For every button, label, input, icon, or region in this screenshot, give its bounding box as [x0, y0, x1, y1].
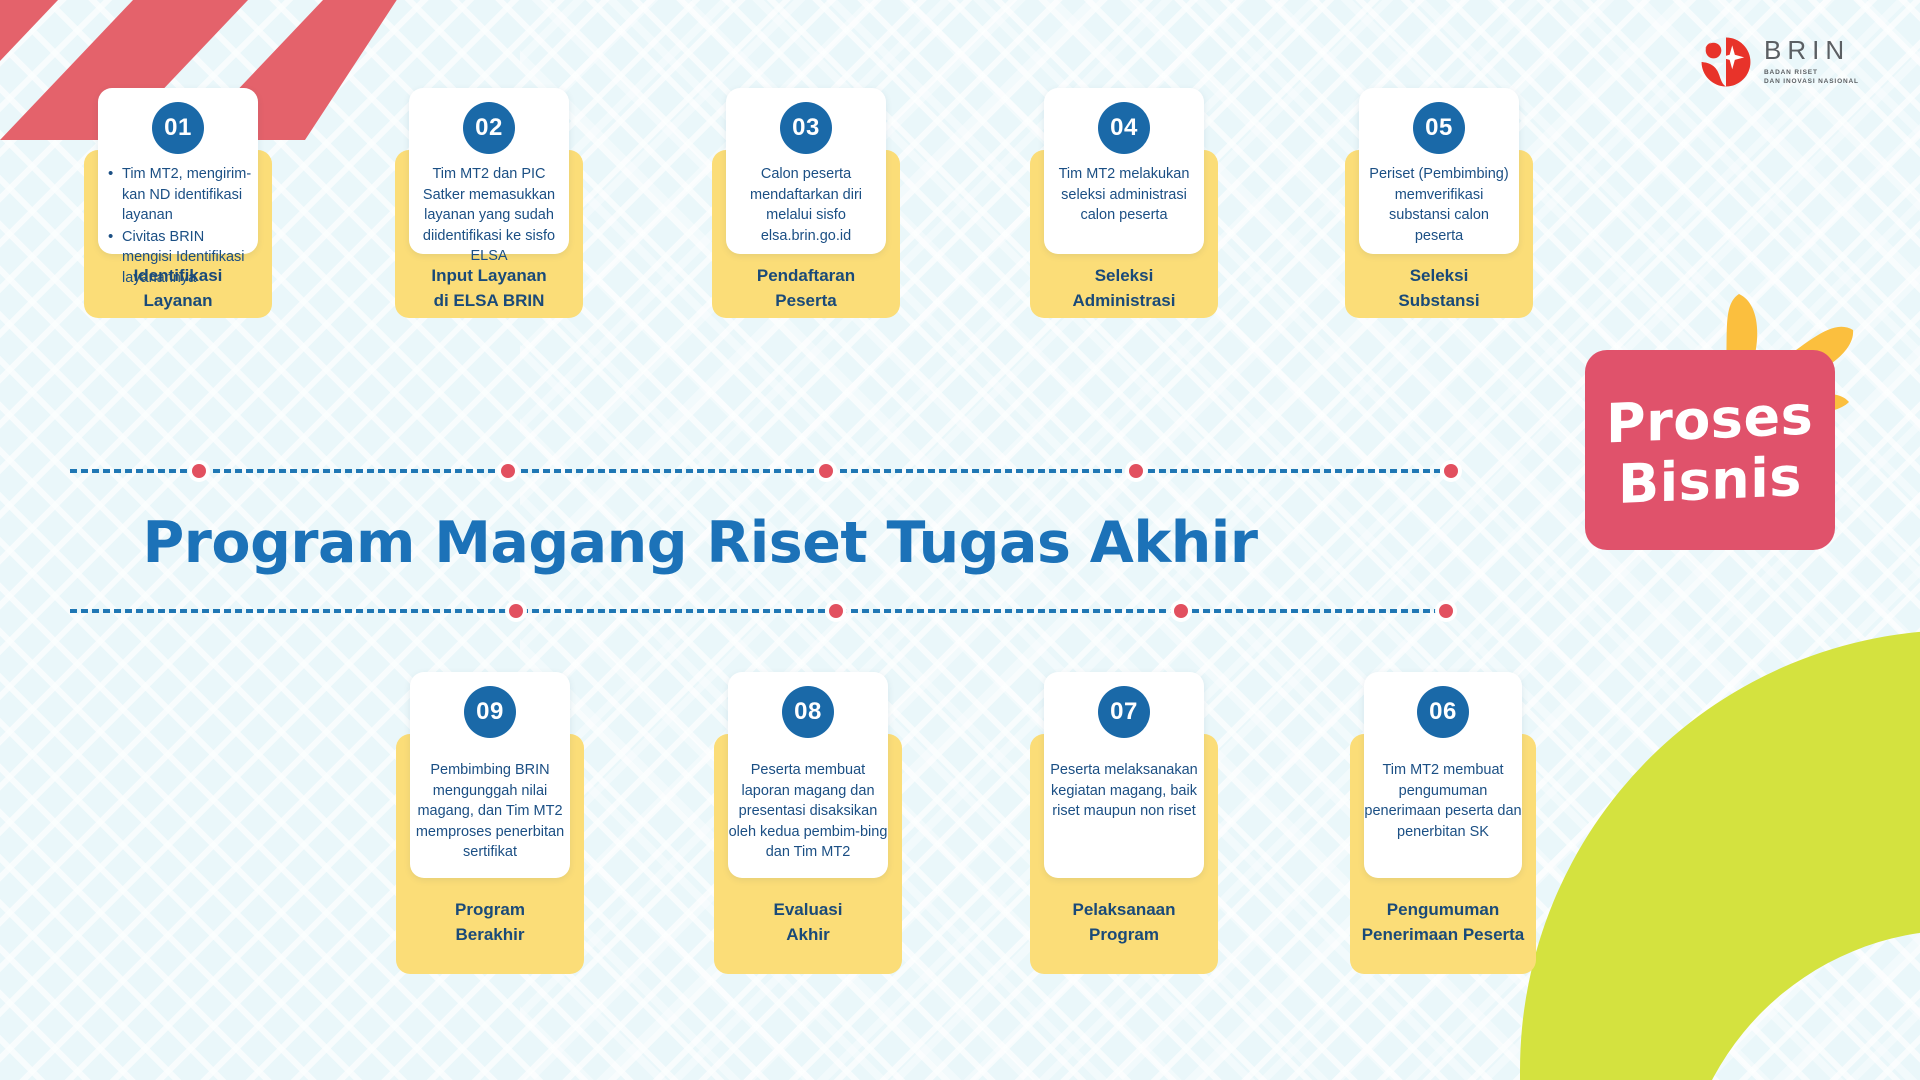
brin-subtitle-line-2: DAN INOVASI NASIONAL — [1764, 77, 1859, 86]
step-description: Periset (Pembimbing) memverifikasi subst… — [1363, 164, 1515, 246]
step-label-line-1: Evaluasi — [714, 898, 902, 923]
timeline-dotted-line — [70, 609, 1440, 613]
step-description: Calon peserta mendaftarkan diri melalui … — [730, 164, 882, 246]
step-card-07[interactable]: 07 Peserta melaksanakan kegiatan magang,… — [1030, 672, 1218, 974]
timeline-dot-core — [192, 464, 206, 478]
step-label-line-1: Seleksi — [1030, 264, 1218, 289]
step-card-08[interactable]: 08 Peserta membuat laporan magang dan pr… — [714, 672, 902, 974]
timeline-dot[interactable] — [1435, 600, 1457, 622]
infographic-canvas: BRIN BADAN RISET DAN INOVASI NASIONAL 01… — [0, 0, 1920, 1080]
step-description: Tim MT2 melakukan seleksi administrasi c… — [1048, 164, 1200, 226]
step-number-badge: 07 — [1098, 686, 1150, 738]
timeline-lower — [70, 600, 1440, 622]
list-item: Tim MT2, mengirim-kan ND identifikasi la… — [108, 164, 254, 226]
step-number-badge: 04 — [1098, 102, 1150, 154]
timeline-dot[interactable] — [188, 460, 210, 482]
step-description: Tim MT2 membuat pengumuman penerimaan pe… — [1364, 760, 1522, 842]
step-label-line-1: Pengumuman — [1328, 898, 1558, 923]
step-card-04[interactable]: 04 Tim MT2 melakukan seleksi administras… — [1030, 88, 1218, 318]
step-number-badge: 05 — [1413, 102, 1465, 154]
step-number-badge: 06 — [1417, 686, 1469, 738]
brin-wordmark: BRIN BADAN RISET DAN INOVASI NASIONAL — [1764, 37, 1859, 86]
step-description: Peserta membuat laporan magang dan prese… — [726, 760, 890, 863]
brin-subtitle: BADAN RISET DAN INOVASI NASIONAL — [1764, 68, 1859, 87]
step-label-line-1: Program — [396, 898, 584, 923]
step-label-line-2: Peserta — [712, 289, 900, 314]
timeline-dot-core — [501, 464, 515, 478]
step-card-06[interactable]: 06 Tim MT2 membuat pengumuman penerimaan… — [1328, 672, 1558, 974]
step-card-09[interactable]: 09 Pembimbing BRIN mengunggah nilai maga… — [396, 672, 584, 974]
timeline-dotted-line — [70, 469, 1440, 473]
step-label: Program Berakhir — [396, 898, 584, 947]
step-label: Seleksi Substansi — [1345, 264, 1533, 313]
step-card-03[interactable]: 03 Calon peserta mendaftarkan diri melal… — [712, 88, 900, 318]
step-label-line-2: Administrasi — [1030, 289, 1218, 314]
proses-bisnis-card: Proses Bisnis — [1585, 350, 1835, 550]
step-label-line-2: Akhir — [714, 923, 902, 948]
step-label-line-2: Substansi — [1345, 289, 1533, 314]
brin-name: BRIN — [1764, 37, 1859, 64]
timeline-dot-core — [819, 464, 833, 478]
proses-bisnis-line-2: Bisnis — [1618, 449, 1802, 512]
timeline-dot[interactable] — [825, 600, 847, 622]
step-number-badge: 03 — [780, 102, 832, 154]
step-description: Pembimbing BRIN mengunggah nilai magang,… — [408, 760, 572, 863]
timeline-dot-core — [1439, 604, 1453, 618]
step-card-02[interactable]: 02 Tim MT2 dan PIC Satker memasukkan lay… — [395, 88, 583, 318]
timeline-dot[interactable] — [1440, 460, 1462, 482]
page-title: Program Magang Riset Tugas Akhir — [0, 510, 1400, 576]
proses-bisnis-line-1: Proses — [1606, 387, 1813, 451]
step-label-line-2: Penerimaan Peserta — [1328, 923, 1558, 948]
step-label-line-1: Seleksi — [1345, 264, 1533, 289]
timeline-dot-core — [829, 604, 843, 618]
timeline-dot[interactable] — [1170, 600, 1192, 622]
step-label: Input Layanan di ELSA BRIN — [395, 264, 583, 313]
step-label-line-1: Pelaksanaan — [1030, 898, 1218, 923]
step-label-line-1: Identifikasi — [84, 264, 272, 289]
timeline-dot[interactable] — [1125, 460, 1147, 482]
brin-logo-icon — [1700, 36, 1752, 88]
step-label: Pendaftaran Peserta — [712, 264, 900, 313]
step-number-badge: 08 — [782, 686, 834, 738]
timeline-dot[interactable] — [505, 600, 527, 622]
step-label: Identifikasi Layanan — [84, 264, 272, 313]
step-label-line-1: Input Layanan — [395, 264, 583, 289]
step-card-05[interactable]: 05 Periset (Pembimbing) memverifikasi su… — [1345, 88, 1533, 318]
step-label: Pengumuman Penerimaan Peserta — [1328, 898, 1558, 947]
timeline-dot-core — [509, 604, 523, 618]
step-label: Evaluasi Akhir — [714, 898, 902, 947]
timeline-dot-core — [1129, 464, 1143, 478]
timeline-dot-core — [1444, 464, 1458, 478]
brin-subtitle-line-1: BADAN RISET — [1764, 68, 1859, 77]
step-label: Seleksi Administrasi — [1030, 264, 1218, 313]
timeline-dot-core — [1174, 604, 1188, 618]
step-label-line-2: di ELSA BRIN — [395, 289, 583, 314]
step-number-badge: 01 — [152, 102, 204, 154]
step-description: Peserta melaksanakan kegiatan magang, ba… — [1042, 760, 1206, 822]
step-label-line-2: Program — [1030, 923, 1218, 948]
step-label: Pelaksanaan Program — [1030, 898, 1218, 947]
step-description: Tim MT2 dan PIC Satker memasukkan layana… — [413, 164, 565, 267]
step-label-line-2: Berakhir — [396, 923, 584, 948]
timeline-dot[interactable] — [815, 460, 837, 482]
brin-logo: BRIN BADAN RISET DAN INOVASI NASIONAL — [1700, 36, 1859, 88]
proses-bisnis-badge: Proses Bisnis — [1585, 350, 1855, 550]
timeline-upper — [70, 460, 1440, 482]
step-number-badge: 09 — [464, 686, 516, 738]
step-label-line-2: Layanan — [84, 289, 272, 314]
timeline-dot[interactable] — [497, 460, 519, 482]
step-number-badge: 02 — [463, 102, 515, 154]
step-card-01[interactable]: 01 Tim MT2, mengirim-kan ND identifikasi… — [84, 88, 272, 318]
step-label-line-1: Pendaftaran — [712, 264, 900, 289]
